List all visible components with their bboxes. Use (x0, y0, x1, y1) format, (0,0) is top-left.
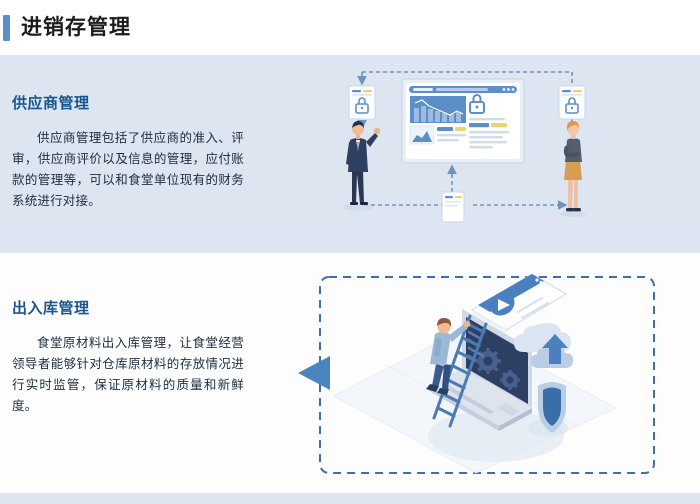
title-accent-bar (3, 15, 10, 41)
browser-dashboard-screen (402, 79, 524, 163)
area-chart-thumbnail (410, 126, 434, 144)
businesswoman-figure (560, 121, 586, 217)
isometric-laptop-cloud-security-illustration (286, 268, 666, 488)
section-heading-supplier: 供应商管理 (12, 92, 90, 113)
page-title: 进销存管理 (21, 17, 131, 38)
section-body-supplier: 供应商管理包括了供应商的准入、评审，供应商评价以及信息的管理，应付账款的管理等，… (12, 128, 244, 212)
page-root: 进销存管理 供应商管理 供应商管理包括了供应商的准入、评审，供应商评价以及信息的… (0, 0, 700, 504)
bar-chart-with-trend-line (410, 96, 466, 123)
left-pointer-triangle (298, 356, 330, 390)
section-heading-inventory: 出入库管理 (12, 297, 90, 318)
document-card-bottom-center (442, 192, 464, 222)
page-header: 进销存管理 (0, 0, 700, 55)
bottom-accent-band (0, 493, 700, 504)
businessman-figure (343, 121, 380, 211)
document-card-lock-top-right (559, 86, 585, 119)
secure-data-dashboard-illustration (318, 62, 618, 240)
document-card-lock-top-left (349, 86, 375, 119)
section-body-inventory: 食堂原材料出入库管理，让食堂经营领导者能够针对仓库原材料的存放情况进行实时监管，… (12, 333, 244, 417)
